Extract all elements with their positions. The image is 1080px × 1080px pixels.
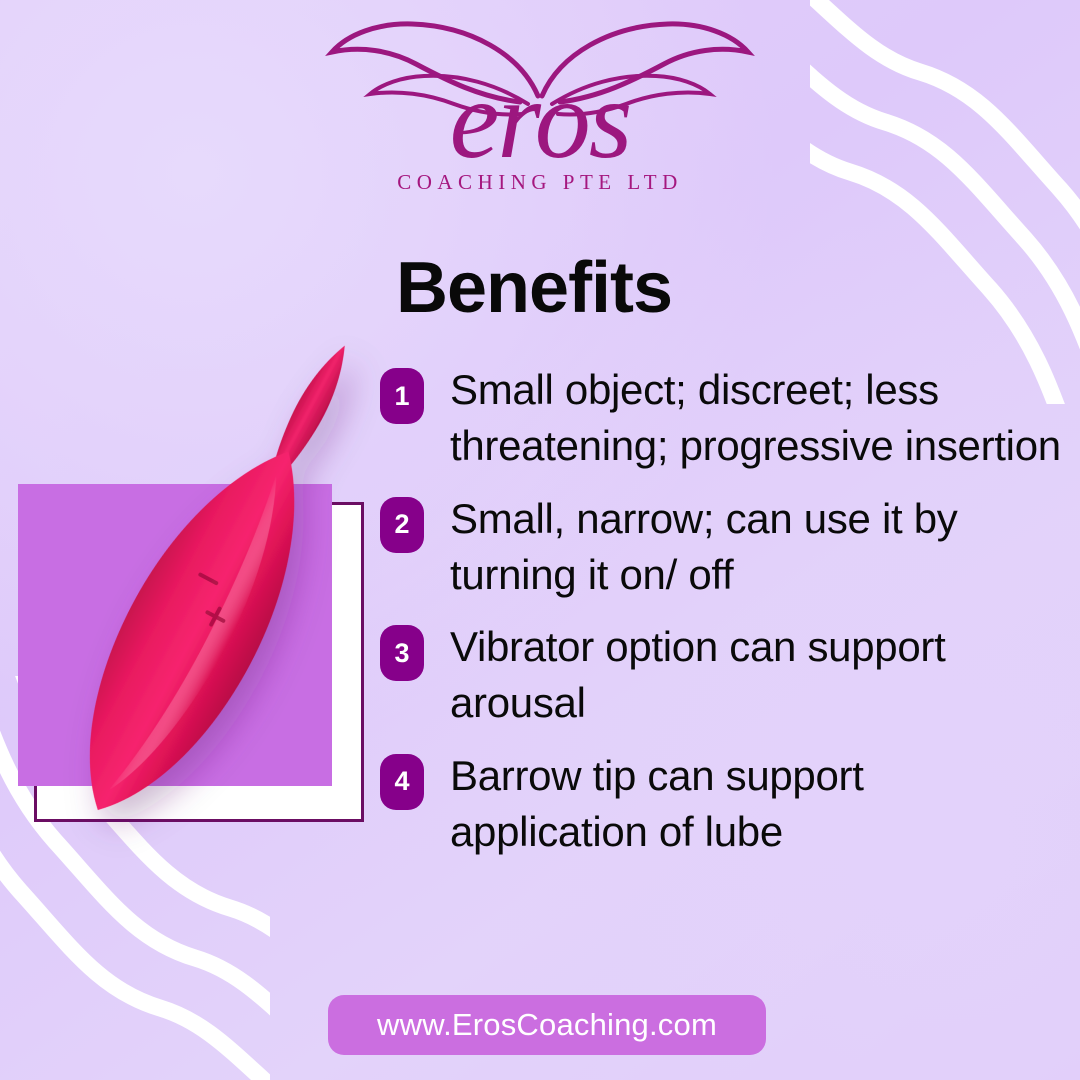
list-item: 3 Vibrator option can support arousal [380,619,1070,732]
list-item: 1 Small object; discreet; less threateni… [380,362,1070,475]
benefit-text: Barrow tip can support application of lu… [450,748,1070,861]
benefit-number-badge: 3 [380,625,424,681]
page-title: Benefits [396,252,672,324]
logo-wordmark: eros [320,64,760,176]
poster-canvas: eros COACHING PTE LTD [0,0,1080,1080]
wavy-lines-icon-top-right [810,0,1080,404]
benefits-list: 1 Small object; discreet; less threateni… [380,362,1070,876]
logo-tagline: COACHING PTE LTD [320,170,760,195]
product-photo [48,284,388,884]
list-item: 2 Small, narrow; can use it by turning i… [380,491,1070,604]
benefit-number-badge: 1 [380,368,424,424]
benefit-text: Small, narrow; can use it by turning it … [450,491,1070,604]
website-url-pill[interactable]: www.ErosCoaching.com [328,995,766,1055]
brand-logo: eros COACHING PTE LTD [320,18,760,203]
benefit-text: Vibrator option can support arousal [450,619,1070,732]
benefit-number-badge: 2 [380,497,424,553]
product-image-block [18,484,366,824]
benefit-text: Small object; discreet; less threatening… [450,362,1070,475]
list-item: 4 Barrow tip can support application of … [380,748,1070,861]
benefit-number-badge: 4 [380,754,424,810]
